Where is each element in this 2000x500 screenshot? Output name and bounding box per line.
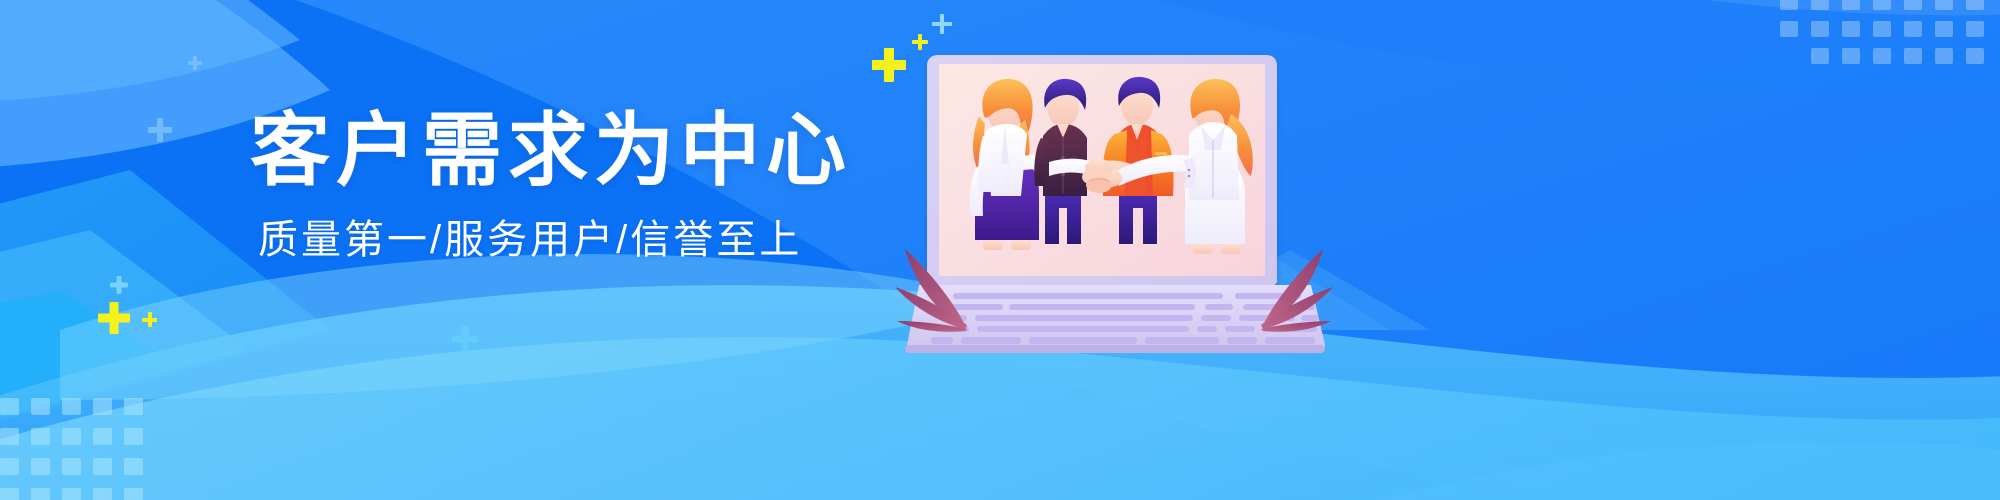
page-subtitle: 质量第一/服务用户/信誉至上: [258, 213, 870, 267]
plus-pale-left-lower-icon: [148, 118, 172, 142]
dot-grid-bottom-left: [0, 398, 250, 500]
page-title: 客户需求为中心: [250, 105, 870, 197]
plus-yellow-small-bottom-icon: [142, 312, 157, 327]
teamwork-scene: [939, 64, 1265, 276]
plus-cyan-top-icon: [932, 14, 952, 34]
plus-yellow-large-top-icon: [872, 48, 906, 82]
teamwork-laptop-illustration: [905, 55, 1325, 355]
plus-pale-left-upper-icon: [188, 56, 202, 70]
dot-grid-top-right: [1770, 0, 2000, 84]
plus-yellow-large-bottom-icon: [98, 302, 130, 334]
plus-cyan-mid-icon: [452, 326, 478, 352]
plus-yellow-small-top-icon: [912, 34, 928, 50]
marketing-banner: 客户需求为中心 质量第一/服务用户/信誉至上: [0, 0, 2000, 500]
leaf-cluster-left-icon: [893, 225, 973, 335]
laptop-screen-bezel: [927, 55, 1277, 285]
laptop-screen: [939, 64, 1265, 276]
plus-cyan-bottom-icon: [110, 276, 128, 294]
headline-block: 客户需求为中心 质量第一/服务用户/信誉至上: [250, 105, 870, 267]
leaf-cluster-right-icon: [1255, 225, 1335, 335]
